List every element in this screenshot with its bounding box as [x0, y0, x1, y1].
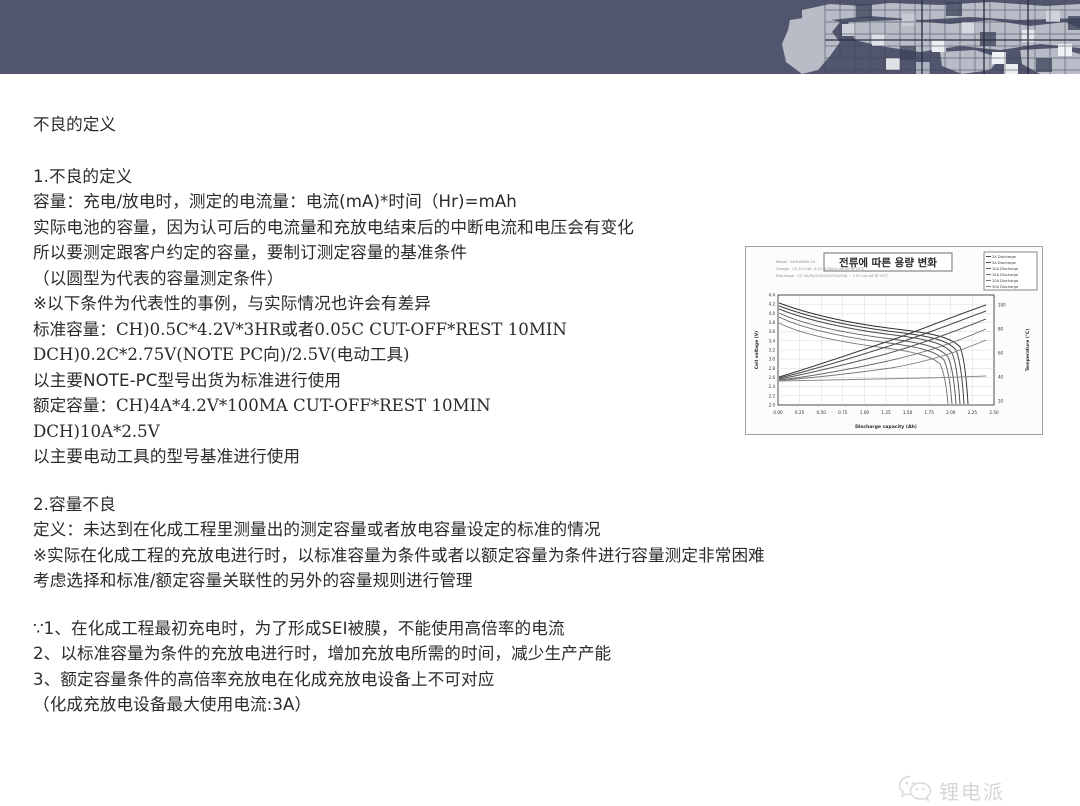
svg-text:4.0: 4.0 — [769, 311, 776, 316]
section-2: 2.容量不良 定义：未达到在化成工程里测量出的测定容量或者放电容量设定的标准的情… — [33, 492, 733, 594]
section-1: 1.不良的定义 容量：充电/放电时，测定的电流量：电流(mA)*时间（Hr)=m… — [33, 164, 733, 470]
svg-text:Charge : CC-CV=4A, 4.2V, 100mA: Charge : CC-CV=4A, 4.2V, 100mA cut-off @… — [776, 267, 864, 271]
section-1-line-2: 实际电池的容量，因为认可后的电流量和充放电结束后的中断电流和电压会有变化 — [33, 215, 733, 241]
svg-text:2.6: 2.6 — [769, 375, 776, 380]
svg-text:3.4: 3.4 — [769, 338, 776, 343]
watermark-label: 锂电派 — [939, 776, 1005, 805]
section-1-line-4: （以圆型为代表的容量测定条件） — [33, 266, 733, 292]
svg-text:Discharge : CC 2A/5A/10A/15A/2: Discharge : CC 2A/5A/10A/15A/20A/30A ~ 2… — [776, 274, 888, 278]
svg-text:3.8: 3.8 — [769, 320, 776, 325]
svg-text:10A Discharge: 10A Discharge — [992, 267, 1019, 271]
section-1-line-5: ※以下条件为代表性的事例，与实际情况也许会有差异 — [33, 291, 733, 317]
svg-text:0.75: 0.75 — [838, 410, 848, 415]
section-1-line-6: 标准容量：CH)0.5C*4.2V*3HR或者0.05C CUT-OFF*RES… — [33, 317, 733, 343]
discharge-capacity-chart: 전류에 따른 용량 변화 Model : AHR18650-25 Charge … — [745, 246, 1043, 435]
section-1-line-10: DCH)10A*2.5V — [33, 419, 733, 445]
svg-text:20: 20 — [998, 399, 1004, 404]
svg-text:2.8: 2.8 — [769, 366, 776, 371]
svg-text:40: 40 — [998, 375, 1004, 380]
section-2-line-3: 考虑选择和标准/额定容量关联性的另外的容量规则进行管理 — [33, 568, 733, 594]
reason-item-3: 3、额定容量条件的高倍率充放电在化成充放电设备上不可对应 — [33, 667, 733, 693]
wechat-icon — [898, 774, 932, 806]
svg-text:1.00: 1.00 — [860, 410, 870, 415]
chart-legend: 2A Discharge 5A Discharge 10A Discharge … — [984, 252, 1037, 290]
svg-text:4.4: 4.4 — [769, 293, 776, 298]
section-1-heading: 1.不良的定义 — [33, 164, 733, 190]
svg-text:2.00: 2.00 — [946, 410, 956, 415]
svg-text:5A Discharge: 5A Discharge — [992, 261, 1017, 265]
section-1-line-11: 以主要电动工具的型号基准进行使用 — [33, 444, 733, 470]
slide-text-column: 不良的定义 1.不良的定义 容量：充电/放电时，测定的电流量：电流(mA)*时间… — [33, 112, 733, 718]
header-band — [0, 0, 1080, 74]
section-1-line-8: 以主要NOTE-PC型号出货为标准进行使用 — [33, 368, 733, 394]
svg-text:2.4: 2.4 — [769, 384, 776, 389]
svg-text:2.25: 2.25 — [968, 410, 978, 415]
reason-item-1: ∵1、在化成工程最初充电时，为了形成SEI被膜，不能使用高倍率的电流 — [33, 616, 733, 642]
svg-text:Temperature (°C): Temperature (°C) — [1025, 329, 1031, 372]
reason-item-4: （化成充放电设备最大使用电流:3A） — [33, 692, 733, 718]
svg-text:30A Discharge: 30A Discharge — [992, 285, 1019, 289]
svg-text:1.75: 1.75 — [925, 410, 935, 415]
reason-item-2: 2、以标准容量为条件的充放电进行时，增加充放电所需的时间，减少生产产能 — [33, 641, 733, 667]
watermark: 锂电派 — [898, 774, 1005, 806]
svg-text:60: 60 — [998, 351, 1004, 356]
svg-text:Cell voltage (V): Cell voltage (V) — [754, 331, 760, 369]
svg-text:20A Discharge: 20A Discharge — [992, 279, 1019, 283]
svg-text:2.50: 2.50 — [989, 410, 999, 415]
world-map-graphic — [690, 0, 1080, 74]
svg-text:3.0: 3.0 — [769, 357, 776, 362]
svg-text:2.2: 2.2 — [769, 393, 776, 398]
svg-text:1.50: 1.50 — [903, 410, 913, 415]
svg-text:80: 80 — [998, 327, 1004, 332]
page-title: 不良的定义 — [33, 112, 733, 138]
svg-text:0.50: 0.50 — [817, 410, 827, 415]
svg-text:Model : AHR18650-25: Model : AHR18650-25 — [776, 260, 815, 264]
svg-text:3.2: 3.2 — [769, 348, 776, 353]
svg-text:15A Discharge: 15A Discharge — [992, 273, 1019, 277]
svg-text:0.00: 0.00 — [773, 410, 783, 415]
section-1-line-3: 所以要测定跟客户约定的容量，要制订测定容量的基准条件 — [33, 240, 733, 266]
section-2-line-1: 定义：未达到在化成工程里测量出的测定容量或者放电容量设定的标准的情况 — [33, 517, 733, 543]
svg-text:4.2: 4.2 — [769, 302, 776, 307]
slide-body: 不良的定义 1.不良的定义 容量：充电/放电时，测定的电流量：电流(mA)*时间… — [0, 74, 1080, 764]
section-1-line-1: 容量：充电/放电时，测定的电流量：电流(mA)*时间（Hr)=mAh — [33, 189, 733, 215]
section-2-heading: 2.容量不良 — [33, 492, 733, 518]
svg-text:1.25: 1.25 — [881, 410, 891, 415]
svg-text:2A Discharge: 2A Discharge — [992, 255, 1017, 259]
section-1-line-9: 额定容量：CH)4A*4.2V*100MA CUT-OFF*REST 10MIN — [33, 393, 733, 419]
reasons-list: ∵1、在化成工程最初充电时，为了形成SEI被膜，不能使用高倍率的电流 2、以标准… — [33, 616, 733, 718]
svg-text:0.25: 0.25 — [795, 410, 805, 415]
svg-text:2.0: 2.0 — [769, 403, 776, 408]
svg-text:Discharge capacity (Ah): Discharge capacity (Ah) — [855, 424, 917, 430]
section-2-line-2: ※实际在化成工程的充放电进行时，以标准容量为条件或者以额定容量为条件进行容量测定… — [33, 543, 733, 569]
svg-text:100: 100 — [998, 303, 1006, 308]
section-1-line-7: DCH)0.2C*2.75V(NOTE PC向)/2.5V(电动工具) — [33, 342, 733, 368]
svg-text:3.6: 3.6 — [769, 329, 776, 334]
